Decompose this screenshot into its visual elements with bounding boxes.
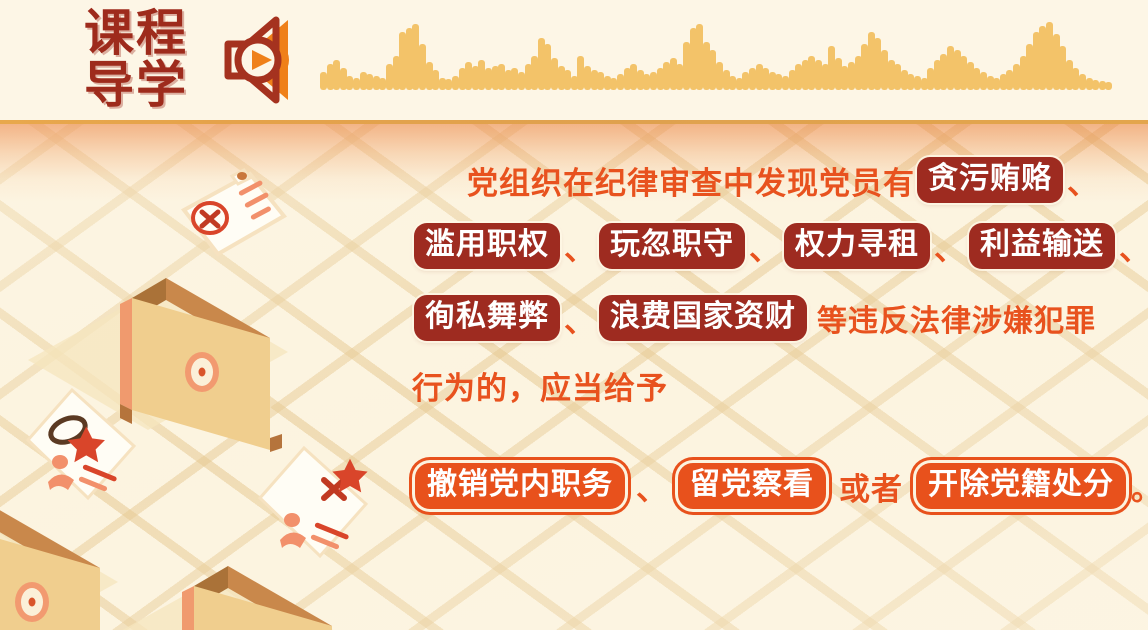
term-chip-langfeiguojiazicai[interactable]: 浪费国家资财: [599, 295, 807, 342]
line5-sep-1: 、: [634, 464, 669, 509]
term-chip-xunsiwubi[interactable]: 徇私舞弊: [414, 295, 560, 342]
logo-char-3: 导: [84, 60, 132, 110]
waveform-bar: [518, 72, 525, 90]
waveform-bar: [386, 64, 393, 90]
penalty-chip-liudangchakan[interactable]: 留党察看: [678, 463, 826, 510]
line3-tail-text: 等违反法律涉嫌犯罪: [817, 296, 1096, 340]
waveform-bar: [848, 62, 855, 90]
penalty-chip-kaichudangjichufen[interactable]: 开除党籍处分: [916, 463, 1126, 510]
waveform-bar: [551, 58, 558, 90]
text-line-5: 撤销党内职务 、 留党察看 或者 开除党籍处分 。: [412, 446, 1100, 526]
waveform-bar: [320, 72, 327, 90]
waveform-bar: [980, 72, 987, 90]
line5-period: 。: [1129, 464, 1148, 509]
waveform-bar: [584, 66, 591, 90]
line4-text: 行为的，应当给予: [412, 363, 668, 408]
term-chip-wanhuzhishou[interactable]: 玩忽职守: [599, 223, 745, 270]
course-guide-logo: 课 程 导 学: [84, 8, 194, 113]
waveform-bar: [485, 68, 492, 90]
waveform-bar: [452, 76, 459, 90]
waveform-bar: [1105, 82, 1112, 90]
waveform-bar: [881, 50, 888, 90]
text-line-3: 徇私舞弊 、 浪费国家资财 等违反法律涉嫌犯罪: [412, 282, 1100, 354]
slide-header: 课 程 导 学: [0, 0, 1148, 122]
text-line-1: 党组织在纪律审查中发现党员有 贪污贿赂 、: [400, 150, 1100, 210]
line2-sep-1: 、: [562, 224, 597, 269]
penalty-chip-chexiaodangneizhiwu[interactable]: 撤销党内职务: [415, 463, 625, 510]
waveform-bar: [716, 62, 723, 90]
speaker-play-icon[interactable]: [212, 14, 308, 106]
waveform-bar: [419, 44, 426, 90]
line2-sep-2: 、: [747, 224, 782, 269]
text-line-4: 行为的，应当给予: [412, 354, 1100, 416]
text-line-2: 滥用职权 、 玩忽职守 、 权力寻租 、 利益输送 、: [412, 210, 1100, 282]
logo-char-2: 程: [136, 8, 184, 58]
waveform-bar: [617, 74, 624, 90]
isometric-folders-illustration: [0, 130, 370, 630]
header-divider: [0, 120, 1148, 124]
line5-mid-text: 或者: [839, 464, 903, 509]
waveform-bar: [1013, 64, 1020, 90]
logo-char-1: 课: [84, 8, 132, 58]
waveform-bar: [947, 46, 954, 90]
logo-char-4: 学: [136, 60, 184, 110]
term-chip-liyishusong[interactable]: 利益输送: [969, 223, 1115, 270]
waveform-bar: [683, 42, 690, 90]
line1-lead-text: 党组织在纪律审查中发现党员有: [467, 158, 915, 203]
term-chip-tanwuhuilu[interactable]: 贪污贿赂: [917, 157, 1063, 204]
waveform-bar: [1079, 74, 1086, 90]
waveform-bar: [353, 78, 360, 90]
lesson-text-block: 党组织在纪律审查中发现党员有 贪污贿赂 、 滥用职权 、 玩忽职守 、 权力寻租…: [400, 150, 1100, 620]
waveform-bar: [650, 72, 657, 90]
line2-sep-3: 、: [932, 224, 967, 269]
line2-sep-4: 、: [1117, 224, 1148, 269]
waveform-bar: [914, 76, 921, 90]
waveform-bar: [749, 68, 756, 90]
waveform-bar: [815, 60, 822, 90]
audio-waveform: [320, 8, 1100, 90]
term-chip-quanlixunzu[interactable]: 权力寻租: [784, 223, 930, 270]
line3-sep-1: 、: [562, 296, 597, 341]
term-chip-lanyongzhiquan[interactable]: 滥用职权: [414, 223, 560, 270]
line1-separator: 、: [1065, 158, 1100, 203]
waveform-bar: [1046, 22, 1053, 90]
slide-canvas: 课 程 导 学 党组织在纪律审查中发现党员有 贪污贿赂 、: [0, 0, 1148, 630]
waveform-bar: [782, 76, 789, 90]
